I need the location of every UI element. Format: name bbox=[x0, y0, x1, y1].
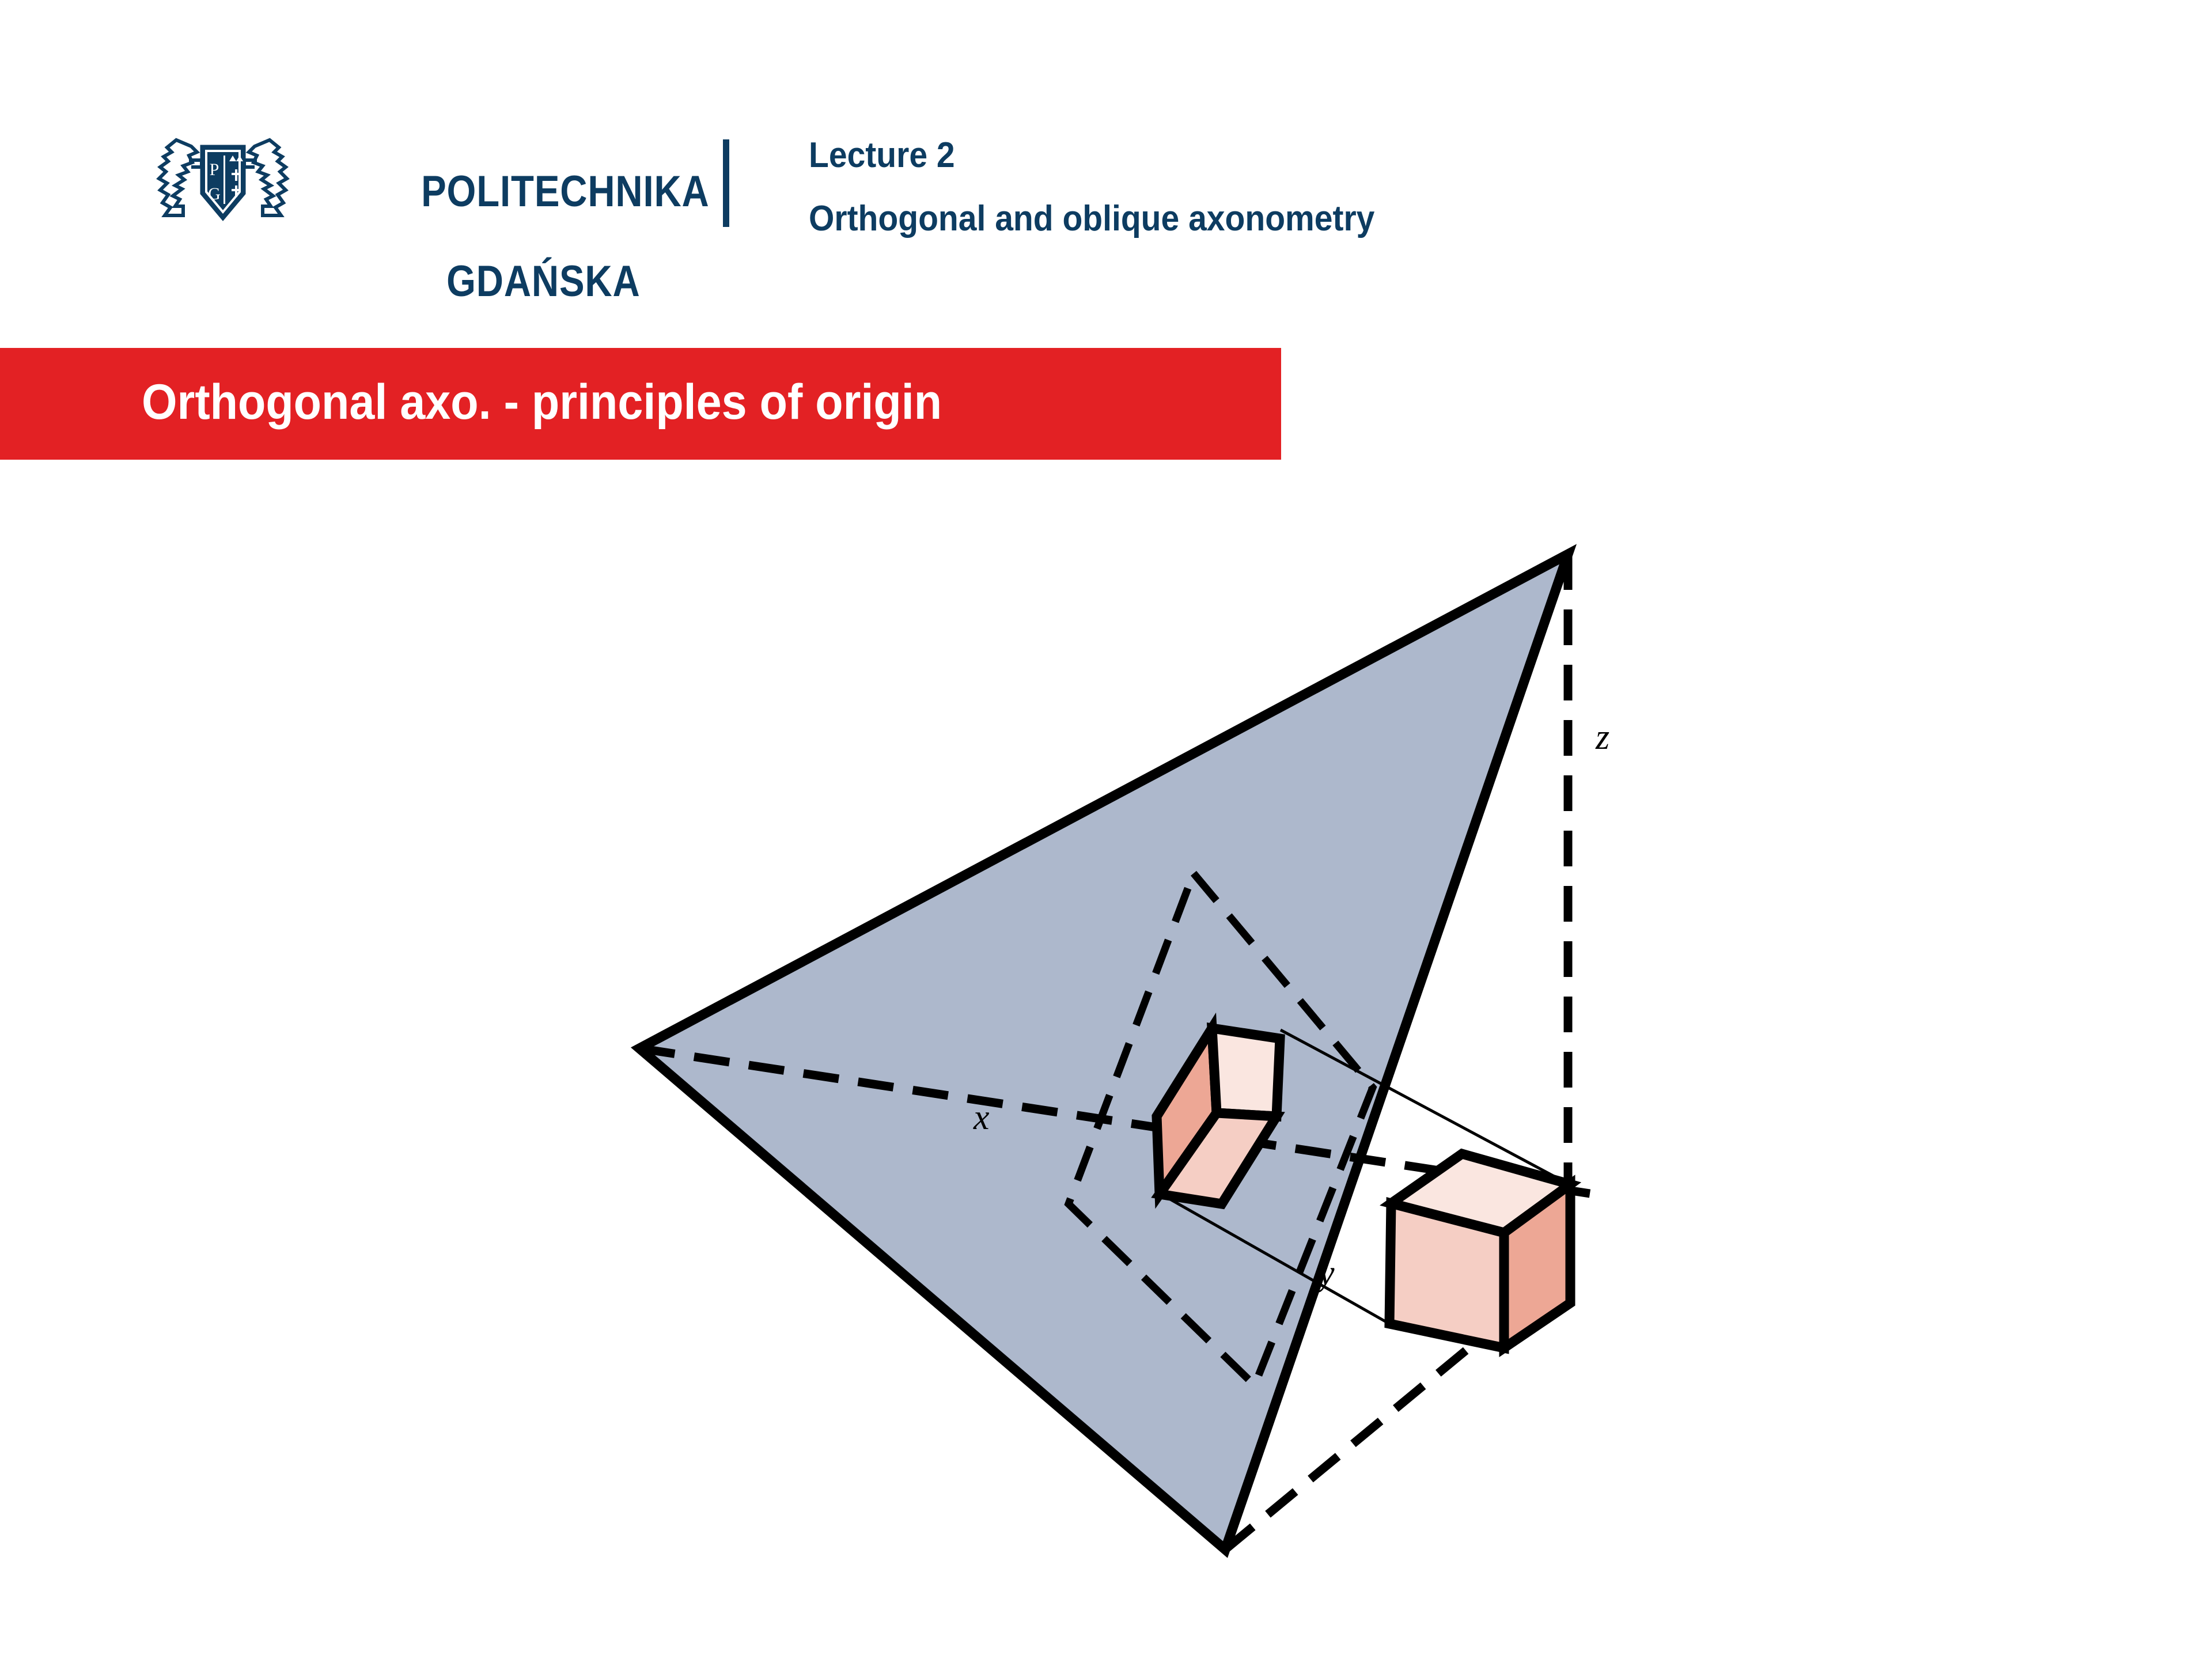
lecture-heading: Lecture 2 Orthogonal and oblique axonome… bbox=[809, 124, 1424, 251]
axis-z-label: z bbox=[1595, 718, 1609, 757]
wordmark-line-1: POLITECHNIKA bbox=[421, 167, 710, 216]
lecture-subject: Orthogonal and oblique axonometry bbox=[809, 187, 1374, 251]
header-divider bbox=[723, 139, 729, 227]
lecture-number: Lecture 2 bbox=[809, 124, 1374, 187]
shield-letter-g: G bbox=[208, 184, 221, 203]
orthogonal-axonometry-diagram: x y z bbox=[0, 490, 2212, 1630]
slide-title: Orthogonal axo. - principles of origin bbox=[142, 368, 942, 437]
page-header: P G POLITECHNIKA GDAŃSKA Lecture 2 Ortho… bbox=[0, 0, 2212, 323]
trace-triangle-plane bbox=[639, 554, 1568, 1550]
wordmark-line-2: GDAŃSKA bbox=[377, 259, 710, 304]
axis-x-label: x bbox=[973, 1098, 990, 1137]
original-cube bbox=[1388, 1154, 1571, 1348]
pg-crest-logo: P G bbox=[134, 126, 312, 232]
shield-letter-p: P bbox=[210, 160, 219, 179]
slide-title-bar: Orthogonal axo. - principles of origin bbox=[0, 348, 1281, 460]
projected-box-front-face bbox=[1212, 1028, 1280, 1116]
cube-front-face bbox=[1389, 1203, 1504, 1348]
